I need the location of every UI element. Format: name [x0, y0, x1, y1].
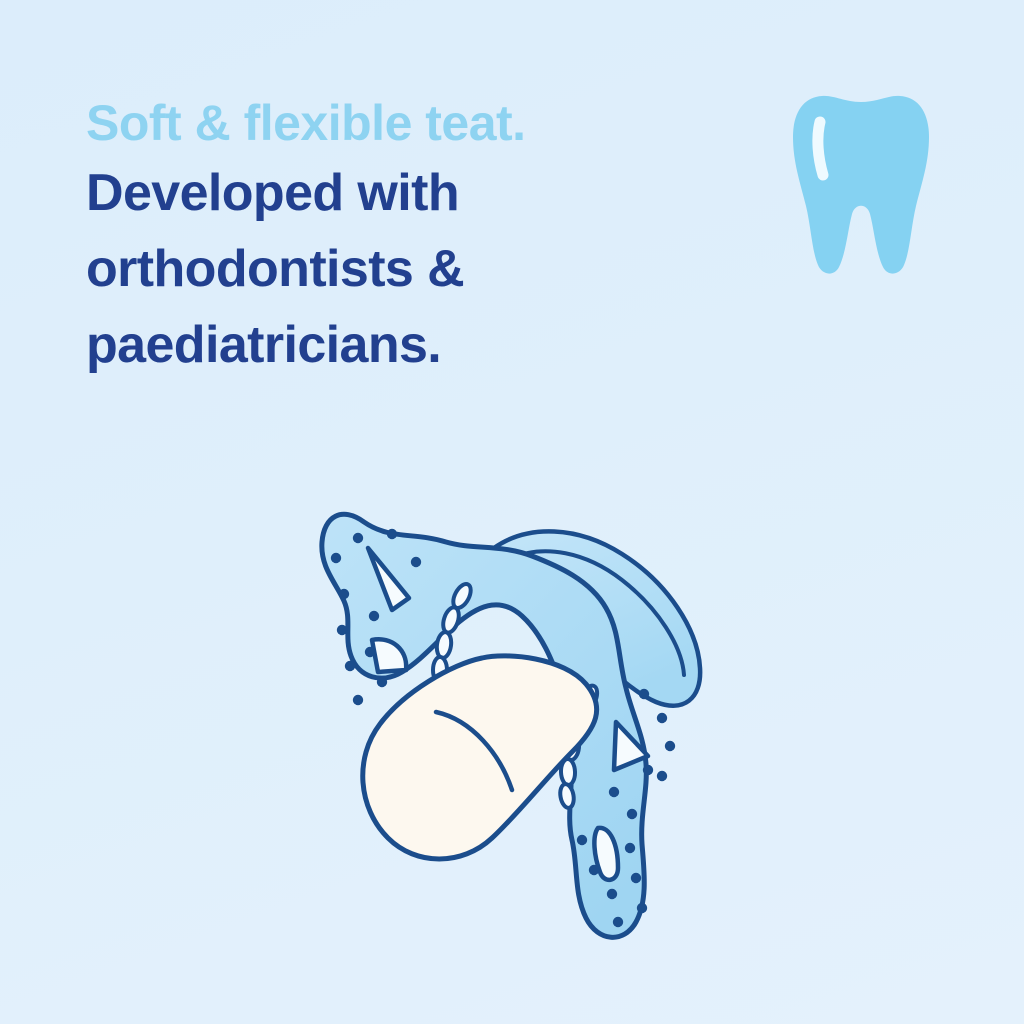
- pacifier-illustration: [296, 470, 736, 980]
- text-block: Soft & flexible teat. Developed with ort…: [86, 96, 726, 384]
- headline-line-3: paediatricians.: [86, 308, 726, 384]
- tooth-icon: [786, 86, 936, 286]
- eyebrow-text: Soft & flexible teat.: [86, 96, 726, 150]
- headline-line-2: orthodontists &: [86, 232, 726, 308]
- feature-card: Soft & flexible teat. Developed with ort…: [0, 0, 1024, 1024]
- page-title: Developed with orthodontists & paediatri…: [86, 156, 726, 384]
- teat: [363, 656, 597, 859]
- headline-line-1: Developed with: [86, 156, 726, 232]
